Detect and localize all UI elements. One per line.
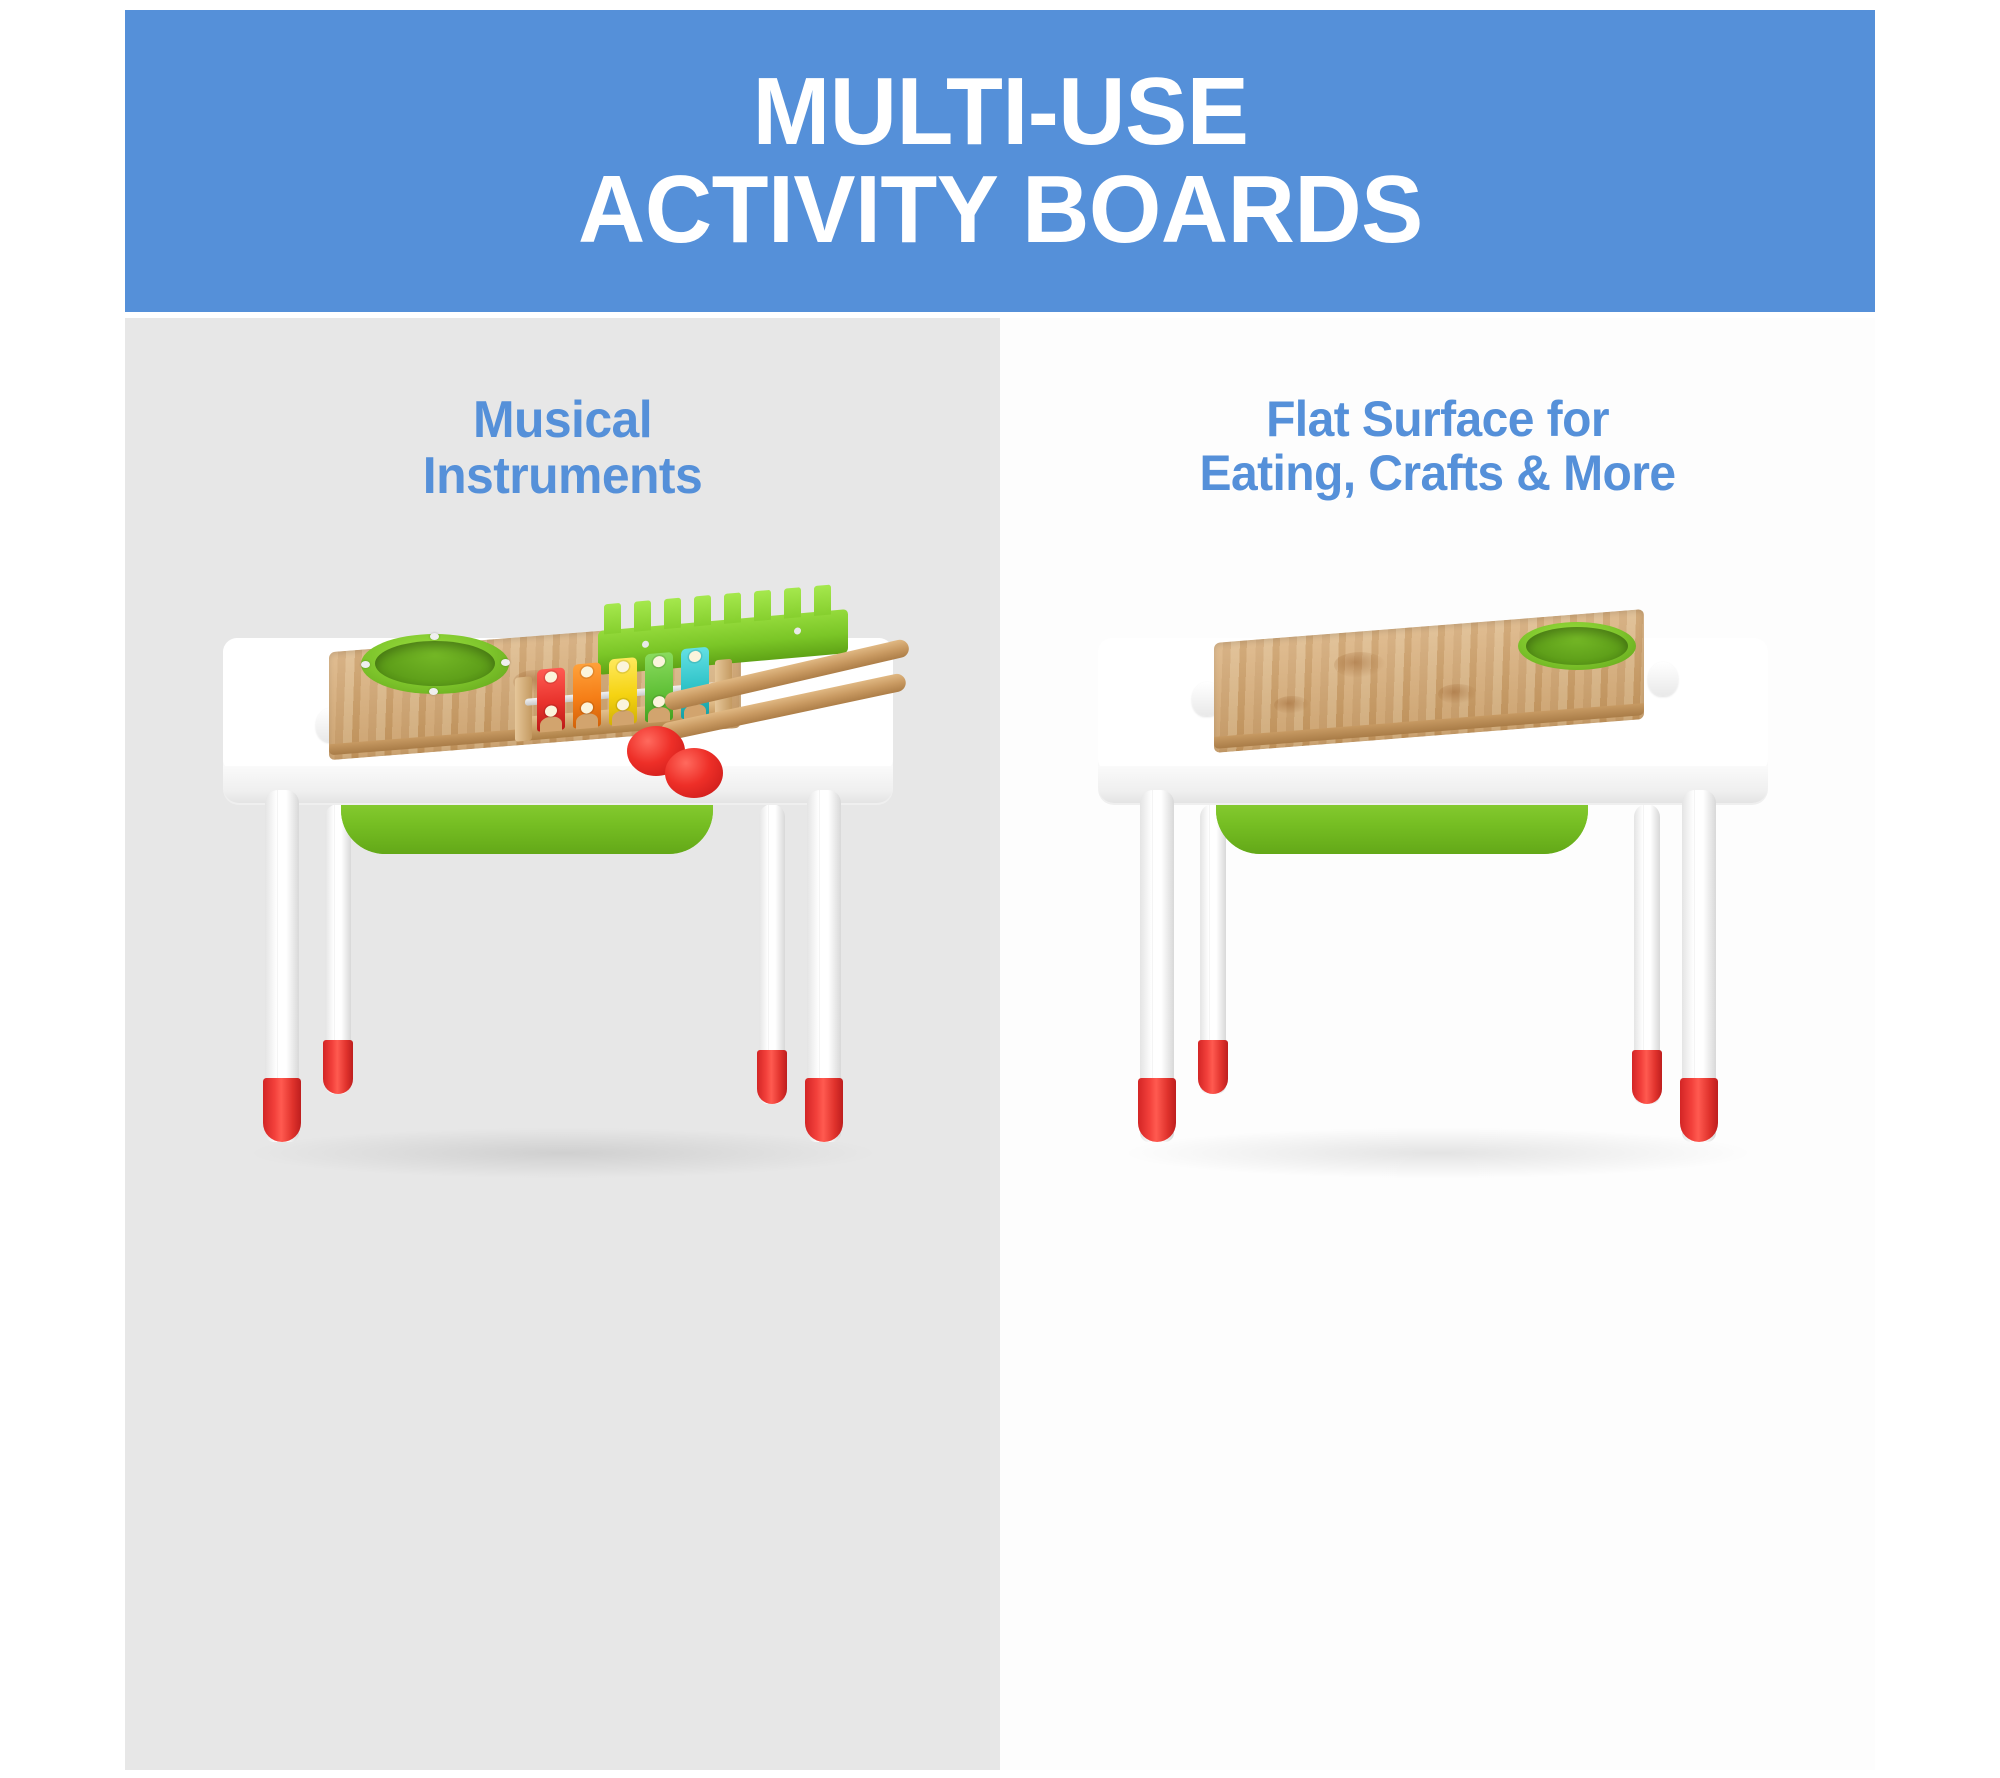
caption-line-1: Musical — [143, 392, 983, 448]
table-leg-front-left — [265, 790, 299, 1142]
wood-grain-knot-a — [1334, 652, 1386, 678]
infographic-root: MULTI-USE ACTIVITY BOARDS Musical Instru… — [0, 0, 2000, 1778]
bell-notch — [612, 709, 634, 726]
table-ground-shadow — [253, 1128, 873, 1178]
mallet-head-right — [665, 748, 723, 798]
panel-flat-surface: Flat Surface for Eating, Crafts & More — [1000, 318, 1875, 1770]
activity-table-flat — [1088, 608, 1788, 1178]
xylophone-bell-orange — [573, 662, 601, 728]
comb-tooth — [724, 592, 741, 623]
wood-grain-knot-b — [1438, 684, 1478, 704]
cup-screw-bottom — [429, 688, 438, 695]
tabletop-edge — [223, 766, 893, 803]
comb-tooth — [664, 598, 681, 629]
board-latch-nub-right — [1648, 662, 1678, 696]
green-cup-basin — [375, 641, 495, 686]
cup-screw-right — [501, 659, 510, 666]
table-foot-front-right — [1680, 1078, 1718, 1142]
table-foot-back-right — [757, 1050, 787, 1104]
bell-notch — [576, 712, 598, 729]
comb-tooth — [784, 587, 801, 618]
caption-line-2: Instruments — [143, 448, 983, 504]
xylophone-bell-green — [645, 652, 673, 722]
xylophone-bell-yellow — [609, 657, 637, 725]
xylophone-bell-teal — [681, 647, 709, 719]
header-banner: MULTI-USE ACTIVITY BOARDS — [125, 10, 1875, 312]
comb-tooth — [634, 600, 651, 631]
wood-grain-knot-c — [1274, 696, 1310, 714]
comb-tooth — [694, 595, 711, 626]
table-foot-back-left — [323, 1040, 353, 1094]
table-foot-front-right — [805, 1078, 843, 1142]
cup-screw-top — [430, 633, 439, 640]
green-cup-basin — [1526, 627, 1628, 665]
caption-line-1: Flat Surface for — [1018, 392, 1858, 446]
panel-musical-instruments: Musical Instruments — [125, 318, 1000, 1770]
comb-tooth — [754, 590, 771, 621]
bell-notch — [540, 716, 562, 733]
bell-notch — [648, 706, 670, 723]
caption-flat-surface: Flat Surface for Eating, Crafts & More — [1018, 392, 1858, 500]
comb-tooth — [604, 603, 621, 634]
tabletop-edge — [1098, 766, 1768, 803]
table-foot-back-left — [1198, 1040, 1228, 1094]
header-title-line-1: MULTI-USE — [752, 63, 1248, 161]
caption-musical-instruments: Musical Instruments — [143, 392, 983, 504]
xylophone-bell-red — [537, 667, 565, 731]
header-title-line-2: ACTIVITY BOARDS — [578, 161, 1423, 259]
activity-table-musical — [213, 608, 913, 1178]
cup-screw-left — [361, 661, 370, 668]
table-foot-front-left — [1138, 1078, 1176, 1142]
table-ground-shadow — [1128, 1128, 1748, 1178]
table-foot-front-left — [263, 1078, 301, 1142]
table-leg-front-right — [1682, 790, 1716, 1142]
table-foot-back-right — [1632, 1050, 1662, 1104]
table-leg-front-right — [807, 790, 841, 1142]
table-leg-front-left — [1140, 790, 1174, 1142]
caption-line-2: Eating, Crafts & More — [1018, 446, 1858, 500]
xylophone-post-left — [515, 676, 532, 741]
comb-screw-right — [794, 627, 801, 635]
comb-tooth — [814, 585, 831, 616]
panel-container: Musical Instruments — [125, 318, 1875, 1770]
